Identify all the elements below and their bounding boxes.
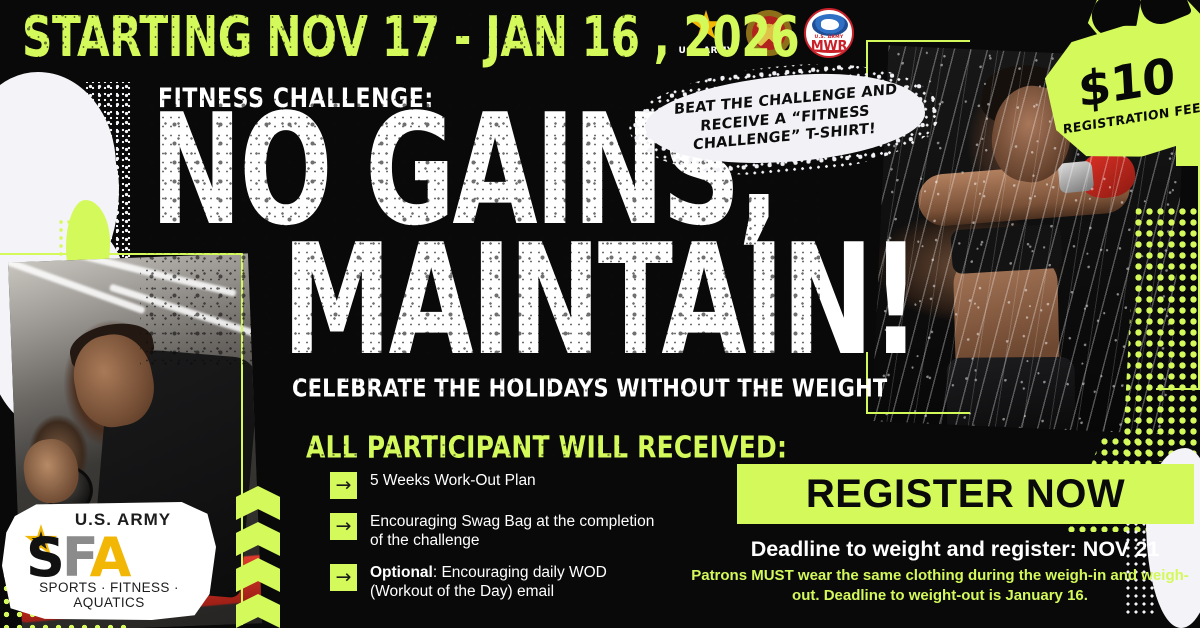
mwr-logo: U.S. ARMY MWR [804,8,854,58]
benefit-bold-3: Optional [370,564,433,581]
register-now-label: REGISTER NOW [806,472,1125,517]
list-item: → 5 Weeks Work-Out Plan [330,472,660,499]
benefit-text-1: 5 Weeks Work-Out Plan [370,472,536,491]
title-line-2: MAINTAIN! [282,238,918,367]
sfa-bottom-label: SPORTS · FITNESS · AQUATICS [2,580,216,610]
poster-canvas: $10 REGISTRATION FEE U.S. ARMY U.S. ARMY… [0,0,1200,628]
date-headline: STARTING NOV 17 - JAN 16 , 2026 [22,10,799,66]
arrow-right-icon: → [330,513,357,540]
list-item: → Encouraging Swag Bag at the completion… [330,513,660,550]
benefit-body-2: Encouraging Swag Bag at the completion o… [370,513,654,549]
arrow-right-icon: → [330,472,357,499]
benefit-text-3: Optional: Encouraging daily WOD (Workout… [370,564,660,601]
arrow-right-icon: → [330,564,357,591]
list-item: → Optional: Encouraging daily WOD (Worko… [330,564,660,601]
register-now-button[interactable]: REGISTER NOW [737,464,1194,524]
title-subhead: CELEBRATE THE HOLIDAYS WITHOUT THE WEIGH… [292,374,887,402]
fee-amount: $10 [1077,51,1176,114]
sfa-monogram: SFA [26,532,190,584]
benefit-text-2: Encouraging Swag Bag at the completion o… [370,513,660,550]
benefits-list: → 5 Weeks Work-Out Plan → Encouraging Sw… [330,472,660,615]
sfa-logo: U.S. ARMY SFA SPORTS · FITNESS · AQUATIC… [2,502,216,620]
weigh-in-note: Patrons MUST wear the same clothing duri… [690,566,1190,607]
mwr-globe-icon [812,14,848,36]
benefits-heading: ALL PARTICIPANT WILL RECEIVED: [306,430,787,465]
tshirt-callout-text: BEAT THE CHALLENGE AND RECEIVE A “FITNES… [645,78,926,159]
deadline-text: Deadline to weight and register: NOV 21 [720,537,1190,562]
benefit-body-1: 5 Weeks Work-Out Plan [370,472,536,489]
